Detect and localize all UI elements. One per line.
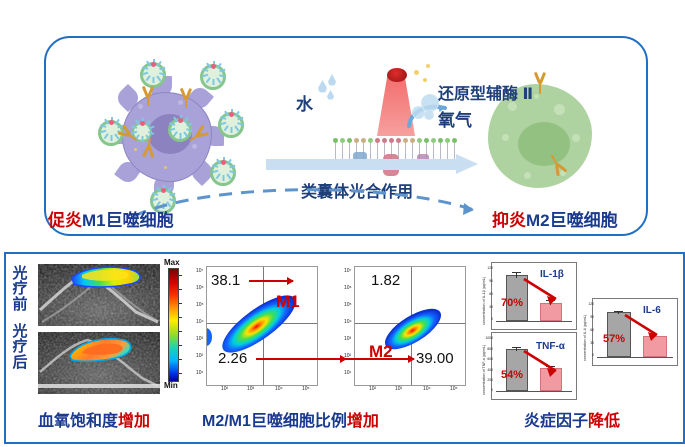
il1b-ytick: 120 (484, 266, 493, 270)
caption-m2-m1-ratio-text: M2/M1巨噬细胞比例 (202, 413, 347, 430)
m1-macrophage-illustration (104, 74, 230, 200)
m2-upper-left-percentage: 1.82 (371, 272, 400, 289)
m1-lower-right-arrow (256, 358, 346, 360)
caption-inflammatory-factors-text: 炎症因子 (524, 413, 588, 430)
nadph-particle-icon (426, 64, 430, 68)
m1-upper-left-arrow (249, 280, 293, 282)
caption-inflammatory-factors: 炎症因子降低 (524, 407, 620, 431)
colorbar-min-label: Min (164, 381, 178, 390)
tnfa-ytick: 600 (483, 357, 493, 361)
il1b-title: IL-1β (540, 269, 564, 280)
m1-to-m2-dashed-arrow (130, 186, 510, 234)
caption-m2-m1-ratio-change: 增加 (347, 413, 379, 430)
tnfa-ytick: 800 (483, 347, 493, 351)
figure-root: 水 还原型辅酶 Ⅱ 氧气 类囊体光合作用 促炎M1巨噬细胞 抑炎M2巨噬细胞 光… (0, 0, 685, 447)
m1-lower-right-percentage: 2.26 (218, 350, 247, 367)
caption-oxygen-saturation-text: 血氧饱和度 (38, 413, 118, 430)
label-m2-macrophage: 抑炎M2巨噬细胞 (492, 206, 618, 231)
m2-lower-right-arrow (342, 358, 414, 360)
label-water: 水 (296, 90, 313, 115)
conversion-arrow (266, 156, 482, 172)
label-m2-name: M2巨噬细胞 (526, 211, 618, 230)
caption-m2-m1-ratio: M2/M1巨噬细胞比例增加 (202, 407, 379, 431)
label-m2-antiinflammatory: 抑炎 (492, 211, 526, 230)
il6-ytick: 120 (585, 302, 594, 306)
il6-decrease-arrow (623, 313, 669, 343)
caption-oxygen-saturation: 血氧饱和度增加 (38, 407, 150, 431)
photoacoustic-image-before (38, 264, 160, 326)
label-before-phototherapy: 光疗前 (12, 266, 28, 312)
label-m1-proinflammatory: 促炎 (48, 211, 82, 230)
tnfa-title: TNF-α (536, 341, 565, 352)
il1b-decrease-arrow (522, 277, 568, 307)
tnfa-reduction-percentage: 54% (501, 369, 523, 381)
m1-region-label: M1 (276, 292, 300, 312)
bottom-panel: 光疗前 光疗后 (4, 252, 685, 444)
label-oxygen: 氧气 (438, 106, 472, 131)
label-after-phototherapy: 光疗后 (12, 324, 28, 370)
label-nadph: 还原型辅酶 Ⅱ (438, 80, 533, 104)
m1-upper-left-percentage: 38.1 (211, 272, 240, 289)
oxygen-bubble-icon (412, 106, 425, 119)
il6-ytick: 90 (585, 315, 594, 319)
nadph-particle-icon (423, 78, 427, 82)
photoacoustic-image-after (38, 332, 160, 394)
il1b-reduction-percentage: 70% (501, 297, 523, 309)
water-droplet-icon (318, 80, 327, 93)
tnfa-ytick: 0 (483, 388, 493, 392)
m2-lower-right-percentage: 39.00 (416, 350, 454, 367)
label-m1-macrophage: 促炎M1巨噬细胞 (48, 206, 174, 231)
colorbar-max-label: Max (164, 258, 180, 267)
il6-reduction-percentage: 57% (603, 333, 625, 345)
tnfa-ytick: 400 (483, 368, 493, 372)
il1b-ytick: 90 (484, 279, 493, 283)
il6-ytick: 30 (585, 341, 594, 345)
bar-chart-il6: concentration of IL-6 (pg/mL) 120 90 60 … (592, 298, 678, 366)
il1b-ytick: 0 (484, 317, 493, 321)
caption-oxygen-saturation-change: 增加 (118, 413, 150, 430)
il1b-ytick: 30 (484, 305, 493, 309)
tnfa-ytick: 200 (483, 378, 493, 382)
bar-chart-il1b: concentration of IL-1β (pg/mL) 120 90 60… (491, 262, 577, 330)
oxygen-bubble-icon (424, 110, 434, 120)
label-m1-name: M1巨噬细胞 (82, 211, 174, 230)
photoacoustic-colorbar (168, 268, 179, 382)
tnfa-ytick: 1000 (483, 336, 493, 340)
nadph-particle-icon (414, 70, 419, 75)
bar-chart-tnfa: concentration of TNF-α (pg/mL) 1000 800 … (491, 332, 577, 400)
il6-ytick: 60 (585, 328, 594, 332)
caption-inflammatory-factors-change: 降低 (588, 413, 620, 430)
tnfa-decrease-arrow (522, 349, 568, 379)
il6-title: IL-6 (643, 305, 661, 316)
il1b-ytick: 60 (484, 292, 493, 296)
il6-ytick: 0 (585, 353, 594, 357)
